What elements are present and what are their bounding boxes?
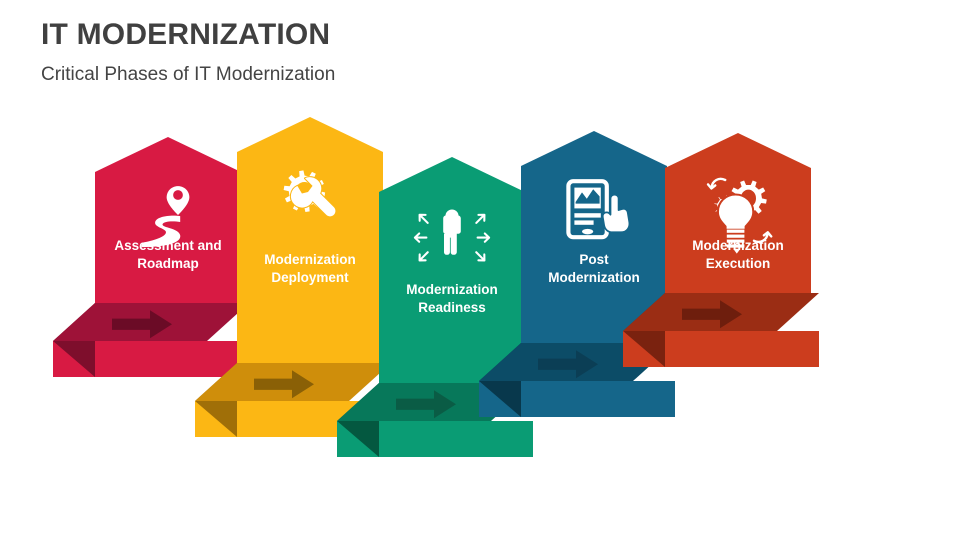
process-diagram: Assessment andRoadmapModernizationDeploy… bbox=[0, 0, 960, 540]
phase-label-line2: Execution bbox=[706, 256, 771, 271]
phase-label-line2: Readiness bbox=[418, 300, 486, 315]
slide-canvas: IT MODERNIZATION Critical Phases of IT M… bbox=[0, 0, 960, 540]
process-phase-5[interactable]: ModernizationExecution bbox=[623, 133, 831, 397]
phase-label-line1: Post bbox=[579, 252, 609, 267]
phase-label-line2: Roadmap bbox=[137, 256, 199, 271]
phase-label-line1: Modernization bbox=[692, 238, 784, 253]
